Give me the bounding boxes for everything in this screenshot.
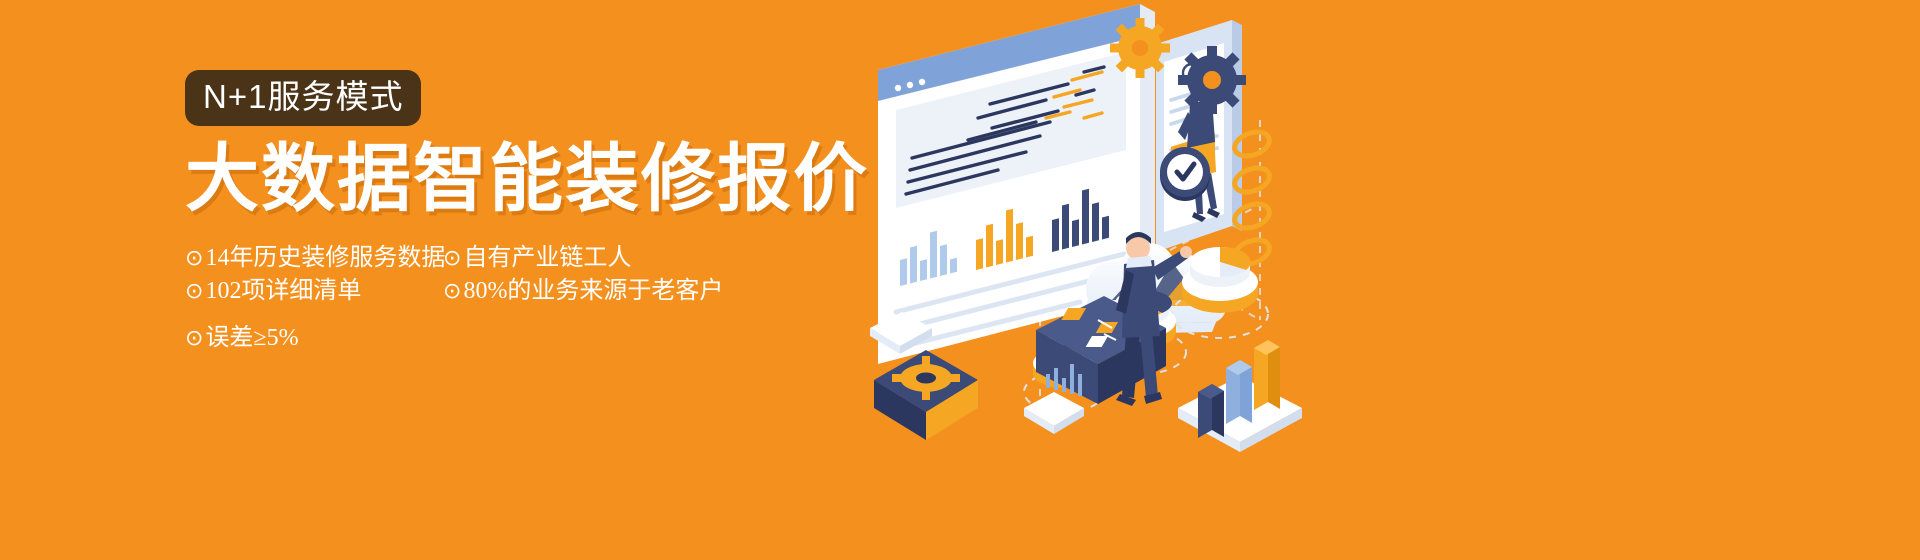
list-item-label: 14年历史装修服务数据 [205,242,445,275]
gear-orange [1110,18,1170,78]
floating-card [1024,392,1084,434]
promo-banner: N+1服务模式 大数据智能装修报价 ⊙ 14年历史装修服务数据 ⊙ 102项详细… [0,0,1920,560]
bar-chart-pedestal [1178,340,1302,452]
list-item-label: 102项详细清单 [205,275,361,308]
headline-text-block: N+1服务模式 大数据智能装修报价 ⊙ 14年历史装修服务数据 ⊙ 102项详细… [185,70,885,355]
circled-dot-icon: ⊙ [443,242,461,275]
page-title: 大数据智能装修报价 [185,142,885,216]
bullet-column-left: ⊙ 14年历史装修服务数据 ⊙ 102项详细清单 ⊙ 误差≥5% [185,242,443,355]
check-badge [1160,147,1210,201]
list-item: ⊙ 自有产业链工人 [443,242,743,275]
bullet-column-right: ⊙ 自有产业链工人 ⊙ 80%的业务来源于老客户 [443,242,743,355]
gear-navy [1178,46,1246,114]
list-item-label: 80%的业务来源于老客户 [463,275,723,308]
list-item-label: 误差≥5% [205,322,298,355]
circled-dot-icon: ⊙ [185,242,203,275]
list-item: ⊙ 102项详细清单 [185,275,443,308]
service-mode-badge: N+1服务模式 [185,70,421,126]
circled-dot-icon: ⊙ [443,275,461,308]
list-item-label: 自有产业链工人 [463,242,631,275]
list-item: ⊙ 误差≥5% [185,322,443,355]
circled-dot-icon: ⊙ [185,275,203,308]
gear-disc-stack [874,350,978,440]
circled-dot-icon: ⊙ [185,322,203,355]
list-item: ⊙ 14年历史装修服务数据 [185,242,443,275]
feature-bullet-list: ⊙ 14年历史装修服务数据 ⊙ 102项详细清单 ⊙ 误差≥5% ⊙ 自有产业链… [185,242,885,355]
isometric-illustration [840,0,1400,560]
list-item: ⊙ 80%的业务来源于老客户 [443,275,743,308]
